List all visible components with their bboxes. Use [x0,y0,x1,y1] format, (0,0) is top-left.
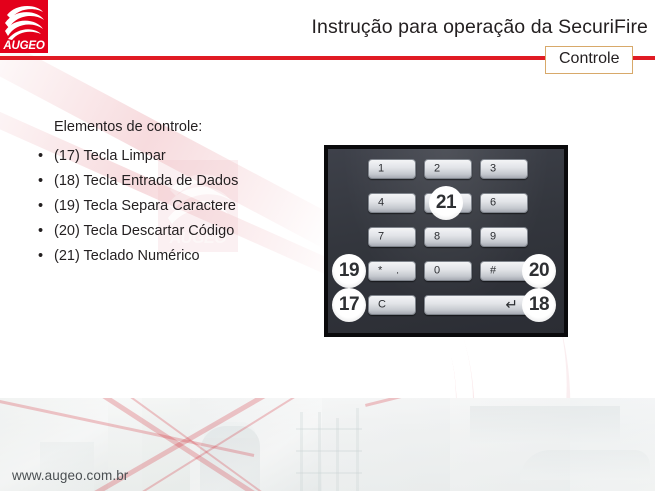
slide: AUGEO AUGEO Instrução para operação da S… [0,0,655,491]
list-item-label: (20) Tecla Descartar Código [54,223,234,239]
bullet-marker: • [38,194,43,219]
keypad-key-enter[interactable]: ↵ [424,295,528,315]
key-label: 4 [378,198,384,209]
callout-17: 17 [332,288,366,322]
website-url[interactable]: www.augeo.com.br [12,468,128,483]
keypad-key-2[interactable]: 2 [424,159,472,179]
bullet-marker: • [38,144,43,169]
keypad-key-0[interactable]: 0 [424,261,472,281]
warehouse-silhouette [470,406,620,444]
keypad-key-clear[interactable]: C [368,295,416,315]
key-label: 0 [434,266,440,277]
keypad-key-1[interactable]: 1 [368,159,416,179]
list-item: • (17) Tecla Limpar [0,144,238,169]
control-elements-list: • (17) Tecla Limpar • (18) Tecla Entrada… [0,144,238,269]
list-item-label: (19) Tecla Separa Caractere [54,198,236,214]
list-item-label: (17) Tecla Limpar [54,148,166,164]
list-item: • (20) Tecla Descartar Código [0,219,238,244]
list-item-label: (21) Teclado Numérico [54,248,200,264]
callout-18: 18 [522,288,556,322]
numeric-keypad-photo: 1 2 3 4 5 6 7 8 [324,145,568,337]
augeo-wordmark: AUGEO [0,40,48,52]
enter-arrow-icon: ↵ [505,298,518,313]
key-label: 9 [490,232,496,243]
key-label: # [490,266,496,277]
augeo-globe-swoosh-icon [0,0,48,42]
callout-20: 20 [522,254,556,288]
key-label-secondary: . [396,266,399,277]
bullet-marker: • [38,169,43,194]
keypad-key-8[interactable]: 8 [424,227,472,247]
bullet-marker: • [38,219,43,244]
key-label: C [378,300,386,311]
keypad-key-asterisk-dot[interactable]: * . [368,261,416,281]
key-label: 6 [490,198,496,209]
keypad-key-6[interactable]: 6 [480,193,528,213]
keypad-key-3[interactable]: 3 [480,159,528,179]
building-silhouette [40,442,94,491]
page-title: Instrução para operação da SecuriFire [200,16,648,39]
key-label: 1 [378,164,384,175]
augeo-logo[interactable]: AUGEO [0,0,48,53]
lead-in-text: Elementos de controle: [54,119,202,135]
key-label: 3 [490,164,496,175]
beam-silhouette [296,428,362,430]
list-item: • (21) Teclado Numérico [0,244,238,269]
callout-21: 21 [429,186,463,220]
keypad-key-4[interactable]: 4 [368,193,416,213]
key-label: 2 [434,164,440,175]
beam-silhouette [296,472,362,474]
keypad-key-9[interactable]: 9 [480,227,528,247]
section-tab-controle[interactable]: Controle [545,46,633,74]
list-item: • (19) Tecla Separa Caractere [0,194,238,219]
keypad-key-7[interactable]: 7 [368,227,416,247]
key-label: 7 [378,232,384,243]
beam-silhouette [296,450,362,452]
list-item: • (18) Tecla Entrada de Dados [0,169,238,194]
keypad-key-hash[interactable]: # [480,261,528,281]
callout-19: 19 [332,254,366,288]
photo-cell [322,398,450,491]
keypad-panel: 1 2 3 4 5 6 7 8 [328,149,564,333]
key-label: 8 [434,232,440,243]
list-item-label: (18) Tecla Entrada de Dados [54,173,238,189]
bullet-marker: • [38,244,43,269]
roof-silhouette [520,450,650,480]
key-label: * [378,266,382,277]
